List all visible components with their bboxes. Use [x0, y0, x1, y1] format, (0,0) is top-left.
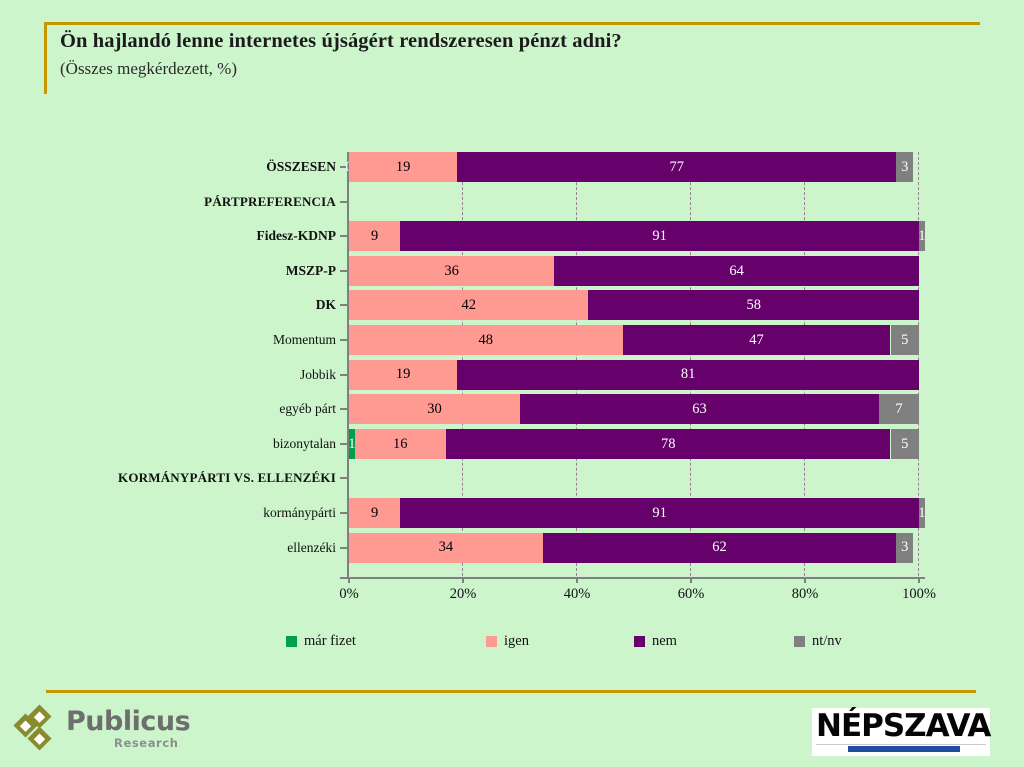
category-label-6: Jobbik	[300, 368, 336, 382]
category-label-3: MSZP-P	[286, 264, 336, 278]
category-label-0: ÖSSZESEN	[266, 160, 336, 174]
bar-segment-nem: 77	[457, 152, 896, 182]
bar-segment-nt_nv: 1	[919, 221, 925, 251]
bar-segment-nt_nv: 7	[879, 394, 919, 424]
legend-swatch-icon	[286, 636, 297, 647]
bar-segment-value: 19	[396, 160, 411, 175]
legend-item-nem[interactable]: nem	[634, 634, 677, 649]
x-axis-tick-label: 0%	[339, 586, 358, 603]
publicus-diamonds-icon	[16, 708, 64, 756]
category-label-2: Fidesz-KDNP	[257, 229, 336, 243]
bar-row: 3664	[349, 256, 919, 286]
bar-segment-value: 7	[895, 402, 902, 417]
category-label-5: Momentum	[273, 333, 336, 347]
legend-item-ntnv[interactable]: nt/nv	[794, 634, 842, 649]
bar-segment-value: 42	[461, 298, 476, 313]
publicus-logo: Publicus Research	[16, 706, 206, 758]
bar-segment-igen: 16	[355, 429, 446, 459]
bar-segment-value: 34	[439, 540, 454, 555]
bar-segment-igen: 9	[349, 498, 400, 528]
y-axis-tick	[340, 547, 347, 549]
bar-segment-nem: 64	[554, 256, 919, 286]
legend-label: igen	[504, 634, 529, 649]
x-axis-tick	[804, 577, 806, 583]
bar-segment-igen: 30	[349, 394, 520, 424]
bar-row: 48475	[349, 325, 919, 355]
bar-segment-value: 91	[652, 506, 667, 521]
bar-segment-nem: 91	[400, 221, 919, 251]
y-axis-tick	[340, 339, 347, 341]
bar-segment-igen: 48	[349, 325, 623, 355]
bar-segment-value: 63	[692, 402, 707, 417]
x-axis-tick	[918, 577, 920, 583]
bar-segment-nem: 58	[588, 290, 919, 320]
y-axis-tick	[340, 443, 347, 445]
bar-row: 019773	[349, 152, 919, 182]
bar-segment-value: 47	[749, 333, 764, 348]
legend-item-igen[interactable]: igen	[486, 634, 529, 649]
nepszava-blue-bar	[848, 746, 960, 752]
bar-segment-nt_nv: 5	[891, 429, 920, 459]
nepszava-logo: NÉPSZAVA	[812, 708, 990, 756]
bar-segment-value: 91	[652, 229, 667, 244]
publicus-wordmark: Publicus	[66, 708, 190, 735]
bar-segment-nem: 62	[543, 533, 896, 563]
bar-segment-value: 78	[661, 437, 676, 452]
chart-legend: már fizetigennemnt/nv	[286, 634, 886, 654]
bar-segment-value: 9	[371, 506, 378, 521]
x-axis-tick	[462, 577, 464, 583]
bar-segment-value: 64	[729, 264, 744, 279]
legend-swatch-icon	[794, 636, 805, 647]
y-axis-tick	[340, 235, 347, 237]
bar-segment-value: 9	[371, 229, 378, 244]
legend-swatch-icon	[634, 636, 645, 647]
y-axis-tick	[340, 374, 347, 376]
bar-segment-igen: 36	[349, 256, 554, 286]
category-label-1: PÁRTPREFERENCIA	[204, 195, 336, 208]
bar-segment-value: 30	[427, 402, 442, 417]
x-axis-tick-label: 20%	[450, 586, 477, 603]
bar-row: 4258	[349, 290, 919, 320]
x-axis-tick-label: 80%	[792, 586, 819, 603]
bar-segment-nem: 47	[623, 325, 891, 355]
publicus-sub-wordmark: Research	[114, 738, 179, 750]
nepszava-rule	[816, 744, 986, 752]
legend-label: nt/nv	[812, 634, 842, 649]
legend-item-mrfizet[interactable]: már fizet	[286, 634, 356, 649]
bar-segment-nt_nv: 3	[896, 152, 913, 182]
y-axis-tick	[340, 270, 347, 272]
legend-label: nem	[652, 634, 677, 649]
legend-swatch-icon	[486, 636, 497, 647]
bar-segment-value: 19	[396, 367, 411, 382]
bar-segment-value: 3	[901, 540, 908, 555]
category-label-9: KORMÁNYPÁRTI VS. ELLENZÉKI	[118, 471, 336, 484]
y-axis-tick	[340, 512, 347, 514]
bar-row: 1981	[349, 360, 919, 390]
category-label-8: bizonytalan	[273, 437, 336, 451]
bar-segment-igen: 34	[349, 533, 543, 563]
bar-segment-value: 1	[918, 506, 925, 521]
category-label-11: ellenzéki	[287, 541, 336, 555]
bar-segment-value: 58	[746, 298, 761, 313]
x-axis-tick-label: 40%	[564, 586, 591, 603]
bar-segment-value: 5	[901, 437, 908, 452]
category-label-7: egyéb párt	[279, 402, 336, 416]
x-axis-tick	[348, 577, 350, 583]
bar-segment-igen: 42	[349, 290, 588, 320]
footer-rule	[46, 690, 976, 693]
bar-segment-value: 77	[669, 160, 684, 175]
bar-segment-value: 5	[901, 333, 908, 348]
y-axis-tick	[340, 477, 347, 479]
bar-segment-value: 62	[712, 540, 727, 555]
bar-row: 30637	[349, 394, 919, 424]
category-label-4: DK	[316, 298, 336, 312]
y-axis-tick	[340, 408, 347, 410]
category-label-10: kormánypárti	[263, 506, 336, 520]
x-axis-tick-label: 100%	[902, 586, 936, 603]
bar-segment-nt_nv: 3	[896, 533, 913, 563]
bar-segment-nt_nv: 1	[919, 498, 925, 528]
nepszava-wordmark: NÉPSZAVA	[816, 710, 986, 743]
x-axis-tick	[690, 577, 692, 583]
bar-segment-value: 16	[393, 437, 408, 452]
bar-segment-value: 1	[918, 229, 925, 244]
x-axis-tick-label: 60%	[678, 586, 705, 603]
bar-segment-value: 36	[444, 264, 459, 279]
bar-segment-value: 81	[681, 367, 696, 382]
bar-segment-value: 48	[479, 333, 494, 348]
bar-row: 34623	[349, 533, 919, 563]
bar-segment-nem: 81	[457, 360, 919, 390]
bar-row: 116785	[349, 429, 919, 459]
bar-segment-nem: 91	[400, 498, 919, 528]
y-axis-tick	[340, 304, 347, 306]
bar-row: 9911	[349, 498, 919, 528]
bar-segment-nem: 78	[446, 429, 891, 459]
y-axis-tick	[340, 201, 347, 203]
legend-label: már fizet	[304, 634, 356, 649]
bar-segment-value: 3	[901, 160, 908, 175]
bar-segment-nt_nv: 5	[891, 325, 920, 355]
x-axis-line	[340, 577, 925, 579]
bar-segment-igen: 19	[349, 360, 457, 390]
x-axis-tick	[576, 577, 578, 583]
bar-segment-nem: 63	[520, 394, 879, 424]
bar-segment-igen: 19	[349, 152, 457, 182]
bar-row: 9911	[349, 221, 919, 251]
bar-segment-igen: 9	[349, 221, 400, 251]
